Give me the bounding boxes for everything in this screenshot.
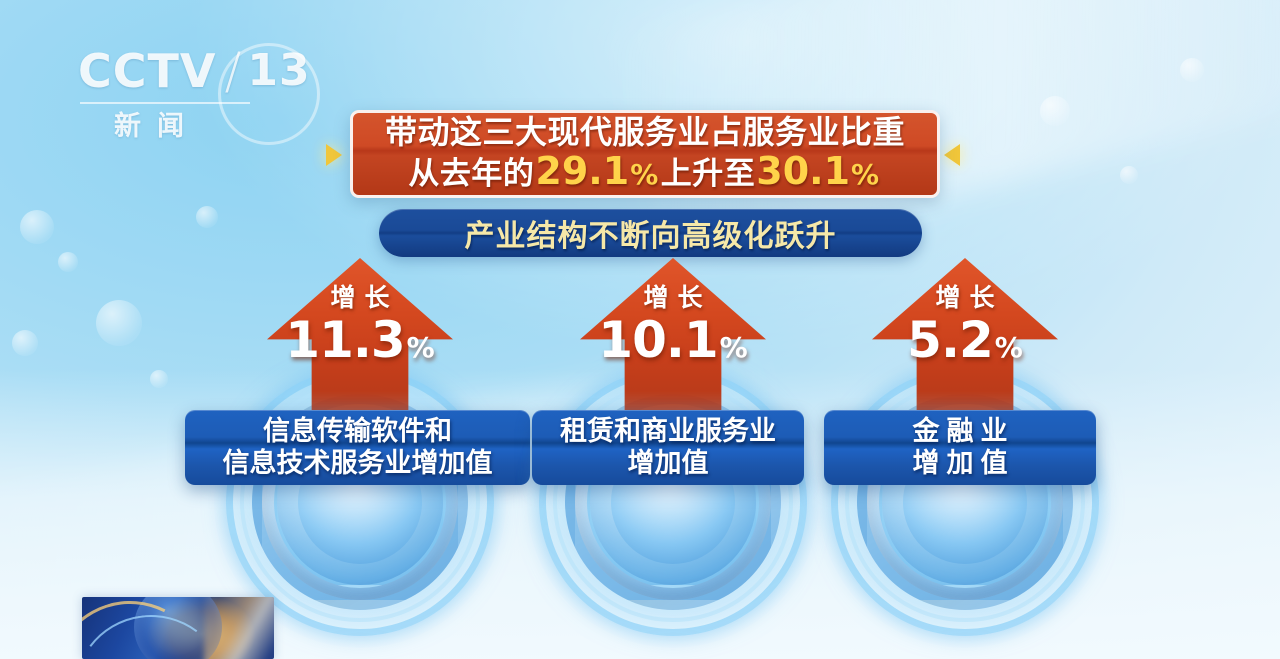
logo-cctv-text: CCTV <box>78 48 217 94</box>
logo-subtitle-text: 新闻 <box>114 104 200 143</box>
sector-name-line-1: 信息传输软件和 <box>263 416 452 448</box>
logo-ring-icon <box>218 43 320 145</box>
bokeh-dot <box>1120 166 1138 184</box>
logo-wordmark: CCTV / 13 <box>78 46 288 96</box>
bokeh-dot <box>12 330 38 356</box>
headline-line-2: 从去年的 29.1 % 上升至 30.1 % <box>408 152 881 192</box>
stat-column: 增长 10.1% 租赁和商业服务业 增加值 <box>508 258 838 598</box>
bokeh-dot <box>20 210 54 244</box>
headline-percent-previous: % <box>630 160 661 189</box>
headline-value-previous: 29.1 <box>534 152 630 192</box>
sector-name-line-1: 金融业 <box>906 416 1015 448</box>
bokeh-dot <box>1180 58 1204 82</box>
stat-column: 增长 5.2% 金融业 增加值 <box>800 258 1130 598</box>
headline-line-1: 带动这三大现代服务业占服务业比重 <box>385 116 905 150</box>
headline-middle: 上升至 <box>661 158 756 191</box>
headline-prefix: 从去年的 <box>408 158 534 191</box>
bokeh-dot <box>96 300 142 346</box>
bokeh-dot <box>196 206 218 228</box>
broadcast-graphic-stage: CCTV / 13 新闻 带动这三大现代服务业占服务业比重 从去年的 29.1 … <box>0 0 1280 659</box>
sector-label-plate: 信息传输软件和 信息技术服务业增加值 <box>185 410 530 485</box>
headline-banner: 带动这三大现代服务业占服务业比重 从去年的 29.1 % 上升至 30.1 % <box>350 110 940 198</box>
cctv-channel-logo: CCTV / 13 新闻 <box>78 46 288 138</box>
logo-channel-number: 13 <box>247 49 310 93</box>
sector-name-line-1: 租赁和商业服务业 <box>560 416 776 448</box>
stat-column: 增长 11.3% 信息传输软件和 信息技术服务业增加值 <box>195 258 525 598</box>
subtitle-text: 产业结构不断向高级化跃升 <box>465 211 837 255</box>
sector-name-line-2: 增加值 <box>906 448 1015 480</box>
bokeh-dot <box>150 370 168 388</box>
subtitle-banner: 产业结构不断向高级化跃升 <box>379 209 922 257</box>
headline-percent-current: % <box>851 160 882 189</box>
headline-value-current: 30.1 <box>755 152 851 192</box>
logo-underline <box>80 102 250 104</box>
play-triangle-left-icon <box>944 144 960 166</box>
sector-label-plate: 金融业 增加值 <box>824 410 1096 485</box>
bokeh-dot <box>58 252 78 272</box>
play-triangle-right-icon <box>326 144 342 166</box>
lower-third-globe-graphic <box>82 597 274 659</box>
light-sheen <box>204 597 274 659</box>
bokeh-dot <box>1040 96 1070 126</box>
logo-slash: / <box>225 46 243 96</box>
sector-name-line-2: 信息技术服务业增加值 <box>223 448 493 480</box>
sector-label-plate: 租赁和商业服务业 增加值 <box>532 410 804 485</box>
sector-name-line-2: 增加值 <box>628 448 709 480</box>
